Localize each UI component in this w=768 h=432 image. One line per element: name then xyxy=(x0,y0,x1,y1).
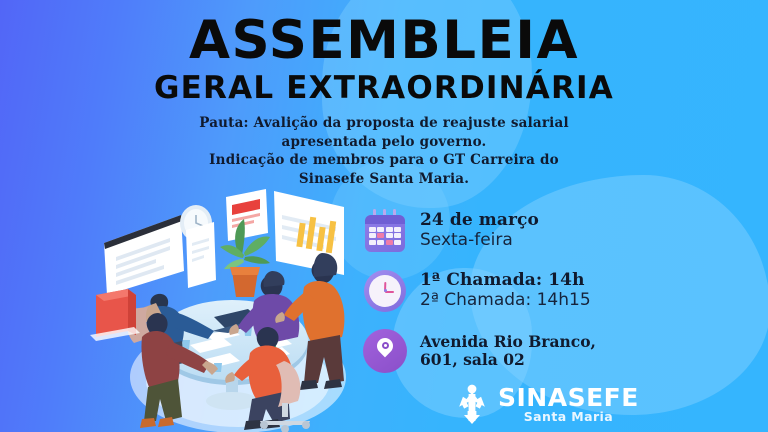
poster-canvas: ASSEMBLEIA GERAL EXTRAORDINÁRIA Pauta: A… xyxy=(0,0,768,432)
date-primary: 24 de março xyxy=(420,210,539,230)
office-meeting-illustration xyxy=(86,185,366,432)
agenda-line-2: apresentada pelo governo. xyxy=(0,133,768,152)
clock-icon xyxy=(362,268,408,314)
agenda-line-3: Indicação de membros para o GT Carreira … xyxy=(0,151,768,170)
logo-name: SINASEFE xyxy=(498,385,639,410)
detail-row-time: 1ª Chamada: 14h 2ª Chamada: 14h15 xyxy=(362,263,596,318)
calendar-icon xyxy=(362,208,408,254)
page-subtitle: GERAL EXTRAORDINÁRIA xyxy=(0,70,768,106)
headline-block: ASSEMBLEIA GERAL EXTRAORDINÁRIA Pauta: A… xyxy=(0,14,768,188)
logo-city: Santa Maria xyxy=(498,411,639,424)
map-pin-icon xyxy=(362,328,408,374)
address-line-1: Avenida Rio Branco, xyxy=(420,333,596,351)
agenda-text: Pauta: Avalição da proposta de reajuste … xyxy=(0,114,768,188)
event-details-list: 24 de março Sexta-feira 1ª Chamada: 14h … xyxy=(362,203,596,383)
agenda-line-1: Pauta: Avalição da proposta de reajuste … xyxy=(0,114,768,133)
detail-row-location: Avenida Rio Branco, 601, sala 02 xyxy=(362,323,596,378)
date-secondary: Sexta-feira xyxy=(420,230,539,251)
page-title: ASSEMBLEIA xyxy=(0,14,768,68)
agenda-line-4: Sinasefe Santa Maria. xyxy=(0,170,768,189)
time-secondary: 2ª Chamada: 14h15 xyxy=(420,290,591,311)
time-primary: 1ª Chamada: 14h xyxy=(420,270,591,290)
sinasefe-figure-icon xyxy=(452,383,492,425)
detail-row-date: 24 de março Sexta-feira xyxy=(362,203,596,258)
sinasefe-logo: SINASEFE Santa Maria xyxy=(452,383,639,425)
address-line-2: 601, sala 02 xyxy=(420,351,596,369)
